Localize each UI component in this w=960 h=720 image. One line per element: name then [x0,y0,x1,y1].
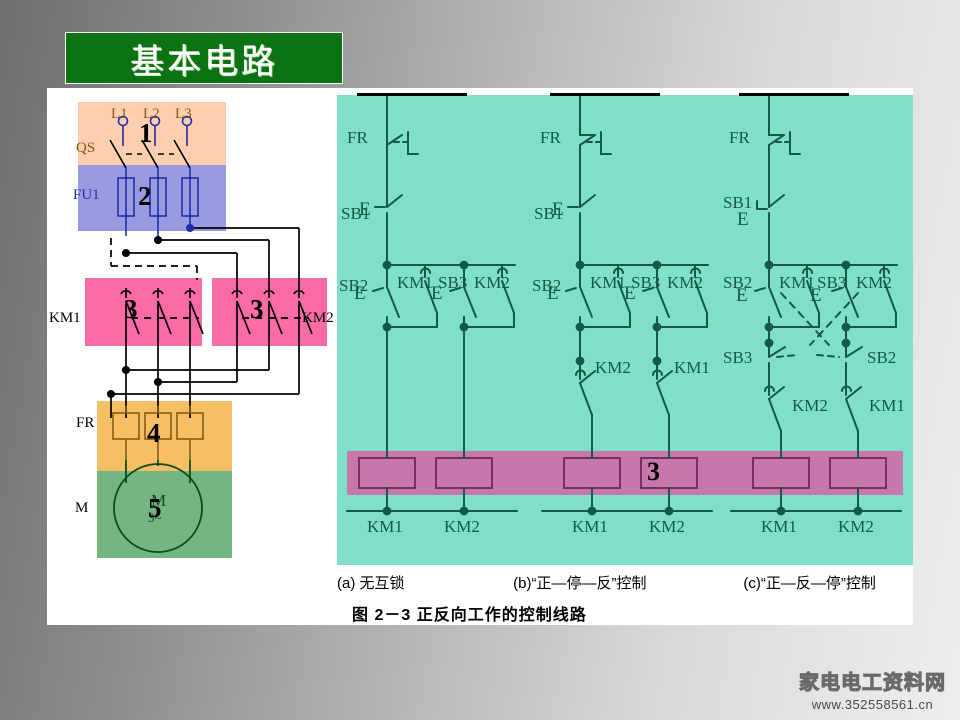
coil-label-b-km1: KM1 [572,517,608,536]
caption-a: (a) 无互锁 [337,572,509,593]
label-c-km2: KM2 [856,273,892,292]
coil-label-b-km2: KM2 [649,517,685,536]
main-circuit-svg: M 3~ [47,88,337,588]
step-number-3b: 3 [250,294,264,325]
device-label-m: M [75,500,88,517]
label-c-fr: FR [729,128,750,147]
terminal-label-l3: L3 [175,106,192,123]
control-circuit-svg: FR SB1 E SB2 E KM1 SB3 E KM2 KM1 KM2 FR … [337,95,913,565]
label-b-km1: KM1 [590,273,626,292]
label-b-km2: KM2 [667,273,703,292]
label-a-fr: FR [347,128,368,147]
device-label-km2: KM2 [302,310,334,327]
label-a-sb2-e: E [354,283,366,304]
coil-label-c-km2: KM2 [838,517,874,536]
caption-b: (b)“正—停—反”控制 [513,572,739,593]
mid-label-c-sb2: SB2 [867,348,896,367]
supply-rail-a [357,93,467,96]
main-circuit-figure: M 3~ L1 L2 L3 QS FU1 KM1 KM2 FR M 1 2 3 … [47,88,337,588]
label-b-sb3-e: E [624,283,636,304]
label-c-sb2-e: E [736,285,748,306]
step-number-4: 4 [147,418,161,449]
step-number-5: 5 [148,493,162,524]
label-c-sb3-e: E [810,285,822,306]
watermark-brand: 家电电工资料网 [799,666,946,695]
label-a-km2: KM2 [474,273,510,292]
interlock-b-km1: KM1 [674,358,710,377]
interlock-c-km2: KM2 [792,396,828,415]
device-label-fr: FR [76,415,94,432]
mid-label-c-sb3: SB3 [723,348,752,367]
terminal-label-l1: L1 [111,106,128,123]
device-label-fu1: FU1 [73,187,100,204]
coil-label-a-km2: KM2 [444,517,480,536]
slide-title: 基本电路 [130,34,278,83]
slide-title-box: 基本电路 [65,32,343,84]
coil-label-a-km1: KM1 [367,517,403,536]
watermark-url: www.352558561.cn [799,697,946,712]
supply-rail-b [550,93,660,96]
figure-caption: 图 2－3 正反向工作的控制线路 [352,601,587,625]
label-b-sb1-e: E [552,199,564,220]
caption-c: (c)“正—反—停”控制 [743,572,875,593]
content-card: M 3~ L1 L2 L3 QS FU1 KM1 KM2 FR M 1 2 3 … [47,88,913,625]
label-c-sb1-e: E [737,209,749,230]
watermark: 家电电工资料网 www.352558561.cn [799,666,946,712]
step-number-1: 1 [139,118,153,149]
device-label-km1: KM1 [49,310,81,327]
device-label-qs: QS [76,140,95,157]
label-a-km1: KM1 [397,273,433,292]
interlock-b-km2: KM2 [595,358,631,377]
coil-label-c-km1: KM1 [761,517,797,536]
label-b-sb2-e: E [547,283,559,304]
control-circuit-figure: FR SB1 E SB2 E KM1 SB3 E KM2 KM1 KM2 FR … [337,95,913,565]
interlock-c-km1: KM1 [869,396,905,415]
label-a-sb3-e: E [431,283,443,304]
label-a-sb1-e: E [359,199,371,220]
step-number-3a: 3 [124,294,138,325]
supply-rail-c [739,93,849,96]
step-number-2: 2 [138,181,152,212]
highlight-number-3: 3 [647,457,660,487]
subfigure-caption-row: (a) 无互锁 (b)“正—停—反”控制 (c)“正—反—停”控制 [337,572,937,593]
label-b-fr: FR [540,128,561,147]
